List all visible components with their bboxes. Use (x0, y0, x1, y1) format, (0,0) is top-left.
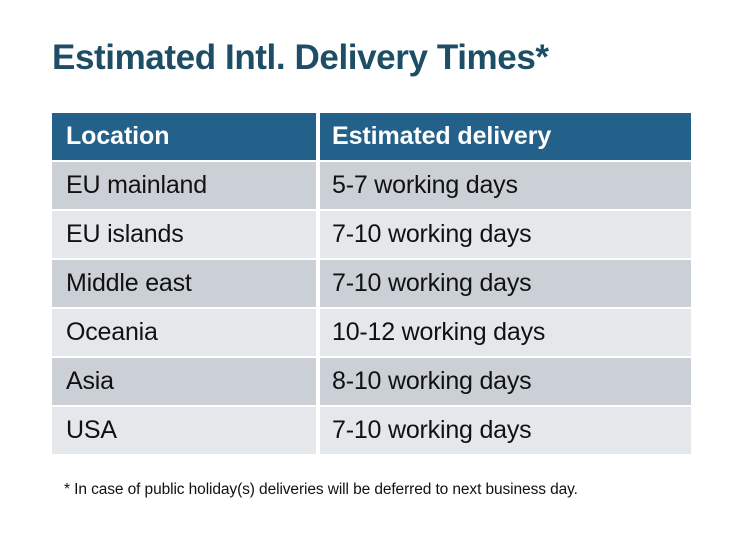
table-row: USA 7-10 working days (52, 407, 691, 454)
table-row: Middle east 7-10 working days (52, 260, 691, 307)
cell-location-value: Middle east (66, 269, 192, 298)
column-header-location-label: Location (66, 122, 169, 151)
cell-delivery: 7-10 working days (320, 407, 691, 454)
cell-location-value: Oceania (66, 318, 158, 347)
cell-delivery-value: 7-10 working days (332, 220, 531, 249)
cell-delivery-value: 8-10 working days (332, 367, 531, 396)
cell-delivery: 10-12 working days (320, 309, 691, 356)
column-header-estimated-delivery-label: Estimated delivery (332, 122, 551, 151)
column-header-location: Location (52, 113, 316, 160)
cell-delivery: 7-10 working days (320, 211, 691, 258)
cell-location: EU islands (52, 211, 316, 258)
cell-delivery: 8-10 working days (320, 358, 691, 405)
table-header-row: Location Estimated delivery (52, 113, 691, 160)
table-row: Asia 8-10 working days (52, 358, 691, 405)
footnote: * In case of public holiday(s) deliverie… (64, 480, 578, 500)
cell-location-value: Asia (66, 367, 114, 396)
cell-location-value: EU mainland (66, 171, 207, 200)
cell-location-value: EU islands (66, 220, 184, 249)
cell-delivery-value: 7-10 working days (332, 416, 531, 445)
cell-location: Asia (52, 358, 316, 405)
table-row: EU mainland 5-7 working days (52, 162, 691, 209)
delivery-times-card: Estimated Intl. Delivery Times* Location… (0, 0, 745, 536)
cell-delivery: 7-10 working days (320, 260, 691, 307)
cell-delivery: 5-7 working days (320, 162, 691, 209)
cell-delivery-value: 5-7 working days (332, 171, 518, 200)
cell-location: USA (52, 407, 316, 454)
page-title: Estimated Intl. Delivery Times* (52, 36, 549, 80)
cell-location-value: USA (66, 416, 117, 445)
cell-location: EU mainland (52, 162, 316, 209)
table-row: Oceania 10-12 working days (52, 309, 691, 356)
cell-delivery-value: 10-12 working days (332, 318, 545, 347)
cell-delivery-value: 7-10 working days (332, 269, 531, 298)
table-row: EU islands 7-10 working days (52, 211, 691, 258)
cell-location: Middle east (52, 260, 316, 307)
delivery-times-table: Location Estimated delivery EU mainland … (52, 113, 691, 454)
column-header-estimated-delivery: Estimated delivery (320, 113, 691, 160)
cell-location: Oceania (52, 309, 316, 356)
